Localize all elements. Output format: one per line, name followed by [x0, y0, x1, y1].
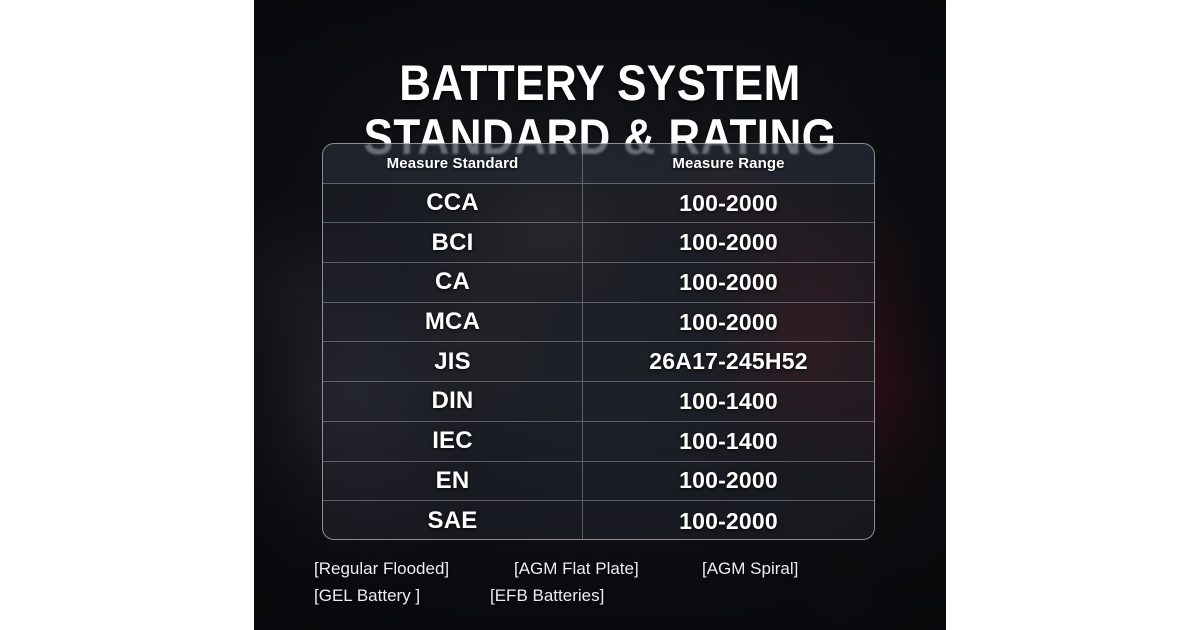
table-row: CCA 100-2000 [323, 184, 874, 224]
cell-standard: IEC [323, 422, 583, 461]
cell-standard: CCA [323, 184, 583, 223]
cell-standard: JIS [323, 342, 583, 381]
battery-type-list-row-1: [Regular Flooded][AGM Flat Plate][AGM Sp… [314, 555, 914, 582]
battery-type-agm-spiral: [AGM Spiral] [702, 555, 798, 582]
dark-content-panel: BATTERY SYSTEM STANDARD & RATING Measure… [254, 0, 946, 630]
cell-range: 100-2000 [583, 501, 874, 540]
battery-standards-table: Measure Standard Measure Range CCA 100-2… [322, 143, 875, 540]
cell-standard: EN [323, 462, 583, 501]
table-row: DIN 100-1400 [323, 382, 874, 422]
table-row: MCA 100-2000 [323, 303, 874, 343]
cell-range: 100-2000 [583, 303, 874, 342]
cell-range: 100-2000 [583, 184, 874, 223]
table-header-row: Measure Standard Measure Range [323, 144, 874, 184]
cell-standard: SAE [323, 501, 583, 540]
battery-type-agm-flat-plate: [AGM Flat Plate] [514, 555, 702, 582]
battery-type-regular-flooded: [Regular Flooded] [314, 555, 514, 582]
column-header-measure-standard: Measure Standard [323, 144, 583, 183]
page-title-line-1: BATTERY SYSTEM [296, 56, 905, 110]
table-row: IEC 100-1400 [323, 422, 874, 462]
battery-type-list: [Regular Flooded][AGM Flat Plate][AGM Sp… [314, 555, 914, 609]
battery-type-efb-batteries: [EFB Batteries] [490, 582, 604, 609]
cell-range: 100-1400 [583, 422, 874, 461]
poster-canvas: BATTERY SYSTEM STANDARD & RATING Measure… [0, 0, 1200, 630]
cell-range: 100-2000 [583, 223, 874, 262]
battery-type-list-row-2: [GEL Battery ][EFB Batteries] [314, 582, 914, 609]
cell-range: 26A17-245H52 [583, 342, 874, 381]
cell-standard: DIN [323, 382, 583, 421]
cell-standard: BCI [323, 223, 583, 262]
cell-range: 100-2000 [583, 263, 874, 302]
table-row: JIS 26A17-245H52 [323, 342, 874, 382]
cell-standard: MCA [323, 303, 583, 342]
column-header-measure-range: Measure Range [583, 144, 874, 183]
table-row: EN 100-2000 [323, 462, 874, 502]
table-row: SAE 100-2000 [323, 501, 874, 540]
cell-range: 100-1400 [583, 382, 874, 421]
cell-range: 100-2000 [583, 462, 874, 501]
cell-standard: CA [323, 263, 583, 302]
table-row: BCI 100-2000 [323, 223, 874, 263]
table-row: CA 100-2000 [323, 263, 874, 303]
battery-type-gel-battery: [GEL Battery ] [314, 582, 490, 609]
